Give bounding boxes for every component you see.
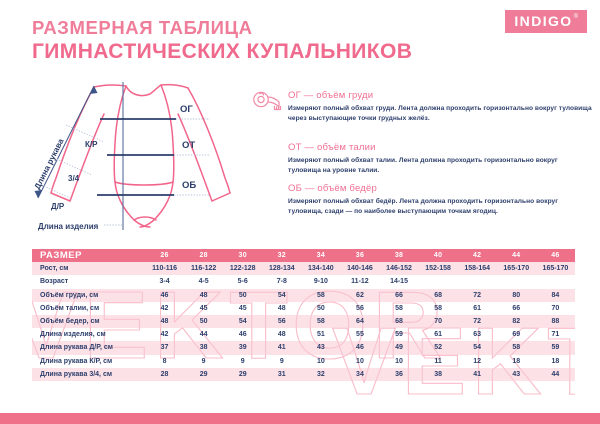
table-cell: 44 [184, 328, 223, 341]
table-cell: 50 [184, 315, 223, 328]
table-cell: 61 [458, 302, 497, 315]
description-ot: ОТ — объём талии Измеряют полный обхват … [252, 142, 592, 177]
diagram-label-ot: ОТ [182, 140, 195, 151]
size-table: РАЗМЕР 2628303234363840424446 Рост, см11… [32, 249, 575, 381]
table-cell: 64 [340, 315, 379, 328]
diagram-label-item-length: Длина изделия [38, 222, 99, 231]
table-cell: 128-134 [262, 262, 301, 275]
row-label: Возраст [32, 275, 145, 288]
table-cell: 58 [379, 302, 418, 315]
diagram-label-three-quarter: 3/4 [68, 174, 80, 183]
row-label: Длина рукава К/Р, см [32, 355, 145, 368]
table-cell: 82 [497, 315, 536, 328]
table-cell: 54 [262, 289, 301, 302]
table-cell: 46 [223, 328, 262, 341]
size-column-header: 46 [536, 249, 575, 262]
row-label: Объём бедер, см [32, 315, 145, 328]
page-header: РАЗМЕРНАЯ ТАБЛИЦА ГИМНАСТИЧЕСКИХ КУПАЛЬН… [0, 0, 600, 78]
size-column-header: 32 [262, 249, 301, 262]
table-cell [497, 275, 536, 288]
table-cell [536, 275, 575, 288]
size-chart-page: РАЗМЕРНАЯ ТАБЛИЦА ГИМНАСТИЧЕСКИХ КУПАЛЬН… [0, 0, 600, 424]
table-cell: 66 [497, 302, 536, 315]
table-cell: 48 [145, 315, 184, 328]
table-cell: 140-146 [340, 262, 379, 275]
table-cell: 42 [145, 302, 184, 315]
table-cell: 51 [301, 328, 340, 341]
table-cell: 9 [262, 355, 301, 368]
table-cell: 31 [262, 368, 301, 381]
table-cell: 43 [497, 368, 536, 381]
table-cell: 18 [536, 355, 575, 368]
table-cell: 72 [458, 289, 497, 302]
table-cell: 165-170 [497, 262, 536, 275]
table-cell: 68 [419, 289, 458, 302]
table-cell: 18 [497, 355, 536, 368]
table-cell: 80 [497, 289, 536, 302]
page-title-line1: РАЗМЕРНАЯ ТАБЛИЦА [32, 19, 253, 38]
description-ob-body: Измеряют полный обхват бедёр. Лента долж… [288, 197, 592, 218]
table-cell: 44 [536, 368, 575, 381]
diagram-label-og: ОГ [180, 104, 193, 115]
size-column-header: 38 [379, 249, 418, 262]
table-cell: 48 [184, 289, 223, 302]
brand-logo-text: INDIGO [514, 14, 572, 28]
size-column-header: 34 [301, 249, 340, 262]
row-label: Длина рукава Д/Р, см [32, 341, 145, 354]
table-cell: 52 [419, 341, 458, 354]
description-og-heading: ОГ — объём груди [288, 90, 592, 101]
table-cell: 42 [145, 328, 184, 341]
page-title-line2: ГИМНАСТИЧЕСКИХ КУПАЛЬНИКОВ [32, 41, 412, 62]
description-og-body: Измеряют полный обхват груди. Лента долж… [288, 104, 592, 125]
table-cell: 72 [458, 315, 497, 328]
table-cell: 41 [458, 368, 497, 381]
table-cell: 29 [223, 368, 262, 381]
table-cell: 45 [223, 302, 262, 315]
size-column-header: 30 [223, 249, 262, 262]
table-cell: 37 [145, 341, 184, 354]
description-ob-heading: ОБ — объём бедёр [288, 183, 592, 194]
table-row: Возраст3-44-55-67-89-1011-1214-15 [32, 275, 575, 288]
table-row: Объём груди, см4648505458626668728084 [32, 289, 575, 302]
table-cell: 54 [458, 341, 497, 354]
table-cell: 50 [301, 302, 340, 315]
table-cell: 9 [184, 355, 223, 368]
table-cell: 5-6 [223, 275, 262, 288]
table-cell [419, 275, 458, 288]
table-cell: 122-128 [223, 262, 262, 275]
table-cell: 48 [262, 328, 301, 341]
table-cell: 9-10 [301, 275, 340, 288]
table-cell: 38 [184, 341, 223, 354]
table-cell: 70 [536, 302, 575, 315]
table-cell: 62 [340, 289, 379, 302]
table-cell: 10 [379, 355, 418, 368]
description-ob: ОБ — объём бедёр Измеряют полный обхват … [252, 183, 592, 218]
table-cell: 88 [536, 315, 575, 328]
table-row: Длина рукава Д/Р, см37383941434649525458… [32, 341, 575, 354]
table-cell: 32 [301, 368, 340, 381]
table-cell: 165-170 [536, 262, 575, 275]
size-table-header-label: РАЗМЕР [32, 249, 145, 262]
table-cell: 116-122 [184, 262, 223, 275]
table-cell: 29 [184, 368, 223, 381]
table-cell: 84 [536, 289, 575, 302]
brand-logo: INDIGO ® [505, 10, 587, 33]
description-og: ОГ — объём груди Измеряют полный обхват … [252, 90, 592, 125]
leotard-measurement-diagram: ОГ ОТ ОБ К/Р 3/4 Д/Р Длина рукава Длина … [22, 82, 252, 242]
table-cell: 45 [184, 302, 223, 315]
diagram-label-ob: ОБ [182, 180, 196, 191]
table-row: Длина рукава 3/4, см28292931323436384143… [32, 368, 575, 381]
table-cell: 68 [379, 315, 418, 328]
table-cell: 46 [340, 341, 379, 354]
table-cell: 9 [223, 355, 262, 368]
table-cell: 61 [419, 328, 458, 341]
table-cell: 158-164 [458, 262, 497, 275]
table-cell: 43 [301, 341, 340, 354]
table-cell: 11-12 [340, 275, 379, 288]
row-label: Объём груди, см [32, 289, 145, 302]
table-cell: 36 [379, 368, 418, 381]
table-cell: 66 [379, 289, 418, 302]
row-label: Длина изделия, см [32, 328, 145, 341]
table-cell: 56 [262, 315, 301, 328]
row-label: Длина рукава 3/4, см [32, 368, 145, 381]
table-row: Длина рукава К/Р, см899910101011121818 [32, 355, 575, 368]
size-table-container: VEKTOR VEKTOR РАЗМЕР 2628303234363840424… [32, 249, 575, 398]
table-cell: 146-152 [379, 262, 418, 275]
table-cell: 34 [340, 368, 379, 381]
description-ot-heading: ОТ — объём талии [288, 142, 592, 153]
table-cell [458, 275, 497, 288]
table-cell: 38 [419, 368, 458, 381]
footer-accent-bar [0, 413, 600, 424]
table-cell: 58 [301, 315, 340, 328]
table-cell: 12 [458, 355, 497, 368]
table-cell: 46 [145, 289, 184, 302]
dr-leader-line [44, 186, 72, 199]
size-column-header: 40 [419, 249, 458, 262]
table-cell: 58 [301, 289, 340, 302]
table-cell: 50 [223, 289, 262, 302]
table-cell: 41 [262, 341, 301, 354]
size-table-body: Рост, см110-116116-122122-128128-134134-… [32, 262, 575, 381]
table-cell: 55 [340, 328, 379, 341]
table-cell: 11 [419, 355, 458, 368]
size-column-header: 42 [458, 249, 497, 262]
table-row: Объём талии, см4245454850565858616670 [32, 302, 575, 315]
row-label: Рост, см [32, 262, 145, 275]
table-cell: 48 [262, 302, 301, 315]
table-cell: 56 [340, 302, 379, 315]
size-column-header: 44 [497, 249, 536, 262]
size-table-header-row: РАЗМЕР 2628303234363840424446 [32, 249, 575, 262]
table-row: Рост, см110-116116-122122-128128-134134-… [32, 262, 575, 275]
table-cell: 63 [458, 328, 497, 341]
table-cell: 39 [223, 341, 262, 354]
table-cell: 70 [419, 315, 458, 328]
table-cell: 152-158 [419, 262, 458, 275]
table-cell: 59 [379, 328, 418, 341]
table-cell: 28 [145, 368, 184, 381]
table-cell: 10 [340, 355, 379, 368]
table-cell: 58 [497, 341, 536, 354]
table-cell: 10 [301, 355, 340, 368]
size-column-header: 28 [184, 249, 223, 262]
row-label: Объём талии, см [32, 302, 145, 315]
diagram-label-dr: Д/Р [51, 202, 65, 211]
table-cell: 8 [145, 355, 184, 368]
table-row: Объём бедер, см4850545658646870728288 [32, 315, 575, 328]
diagram-label-kr: К/Р [85, 140, 98, 149]
table-cell: 49 [379, 341, 418, 354]
table-cell: 58 [419, 302, 458, 315]
table-cell: 69 [497, 328, 536, 341]
description-ot-body: Измеряют полный обхват талии. Лента долж… [288, 156, 592, 177]
size-table-head: РАЗМЕР 2628303234363840424446 [32, 249, 575, 262]
registered-trademark-icon: ® [574, 14, 578, 20]
size-column-header: 26 [145, 249, 184, 262]
size-column-header: 36 [340, 249, 379, 262]
table-cell: 59 [536, 341, 575, 354]
table-cell: 7-8 [262, 275, 301, 288]
table-cell: 134-140 [301, 262, 340, 275]
table-row: Длина изделия, см4244464851555961636971 [32, 328, 575, 341]
table-cell: 71 [536, 328, 575, 341]
table-cell: 3-4 [145, 275, 184, 288]
table-cell: 14-15 [379, 275, 418, 288]
measuring-tape-icon [252, 90, 284, 114]
table-cell: 4-5 [184, 275, 223, 288]
table-cell: 54 [223, 315, 262, 328]
table-cell: 110-116 [145, 262, 184, 275]
